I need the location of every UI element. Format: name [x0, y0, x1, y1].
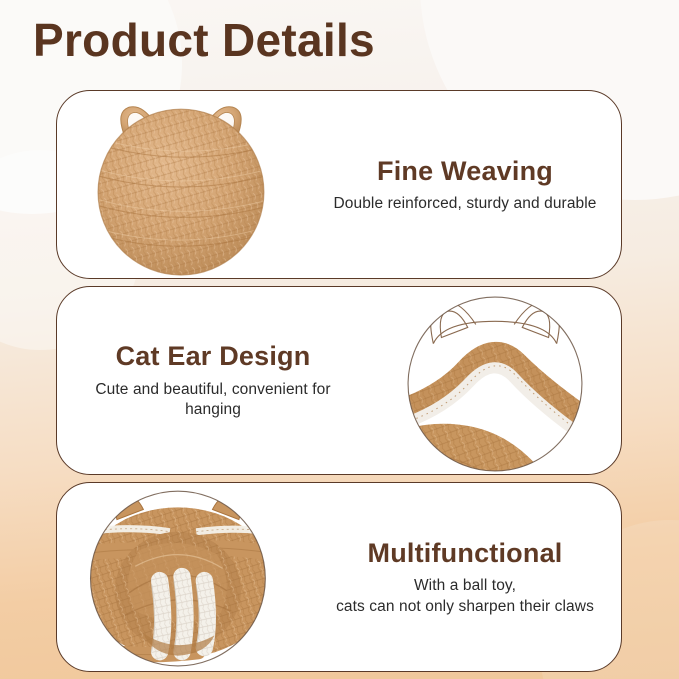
page-title: Product Details — [33, 14, 375, 67]
card-heading: Cat Ear Design — [67, 340, 359, 372]
white-rope-strands — [151, 576, 207, 651]
card-text-multifunctional: Multifunctional With a ball toy, cats ca… — [309, 537, 621, 617]
card-subtitle: With a ball toy, cats can not only sharp… — [319, 576, 611, 617]
cat-ear-detail-illustration — [369, 287, 621, 474]
feature-card-fine-weaving: Fine Weaving Double reinforced, sturdy a… — [56, 90, 622, 279]
card-subtitle-line-1: With a ball toy, — [319, 576, 611, 596]
product-image-rope-ball-toy — [57, 483, 309, 671]
product-image-cat-ear-closeup — [369, 287, 621, 474]
feature-card-cat-ear-design: Cat Ear Design Cute and beautiful, conve… — [56, 286, 622, 475]
card-text-fine-weaving: Fine Weaving Double reinforced, sturdy a… — [309, 155, 621, 215]
rope-ball-toy-illustration — [57, 483, 309, 671]
card-heading: Multifunctional — [319, 537, 611, 569]
card-subtitle: Double reinforced, sturdy and durable — [319, 194, 611, 214]
card-heading: Fine Weaving — [319, 155, 611, 187]
card-subtitle: Cute and beautiful, convenient for hangi… — [67, 380, 359, 421]
product-image-round-woven-mat — [57, 91, 309, 278]
feature-card-multifunctional: Multifunctional With a ball toy, cats ca… — [56, 482, 622, 672]
card-text-cat-ear-design: Cat Ear Design Cute and beautiful, conve… — [57, 340, 369, 420]
card-subtitle-line-2: cats can not only sharpen their claws — [319, 597, 611, 617]
woven-mat-illustration — [57, 91, 309, 278]
